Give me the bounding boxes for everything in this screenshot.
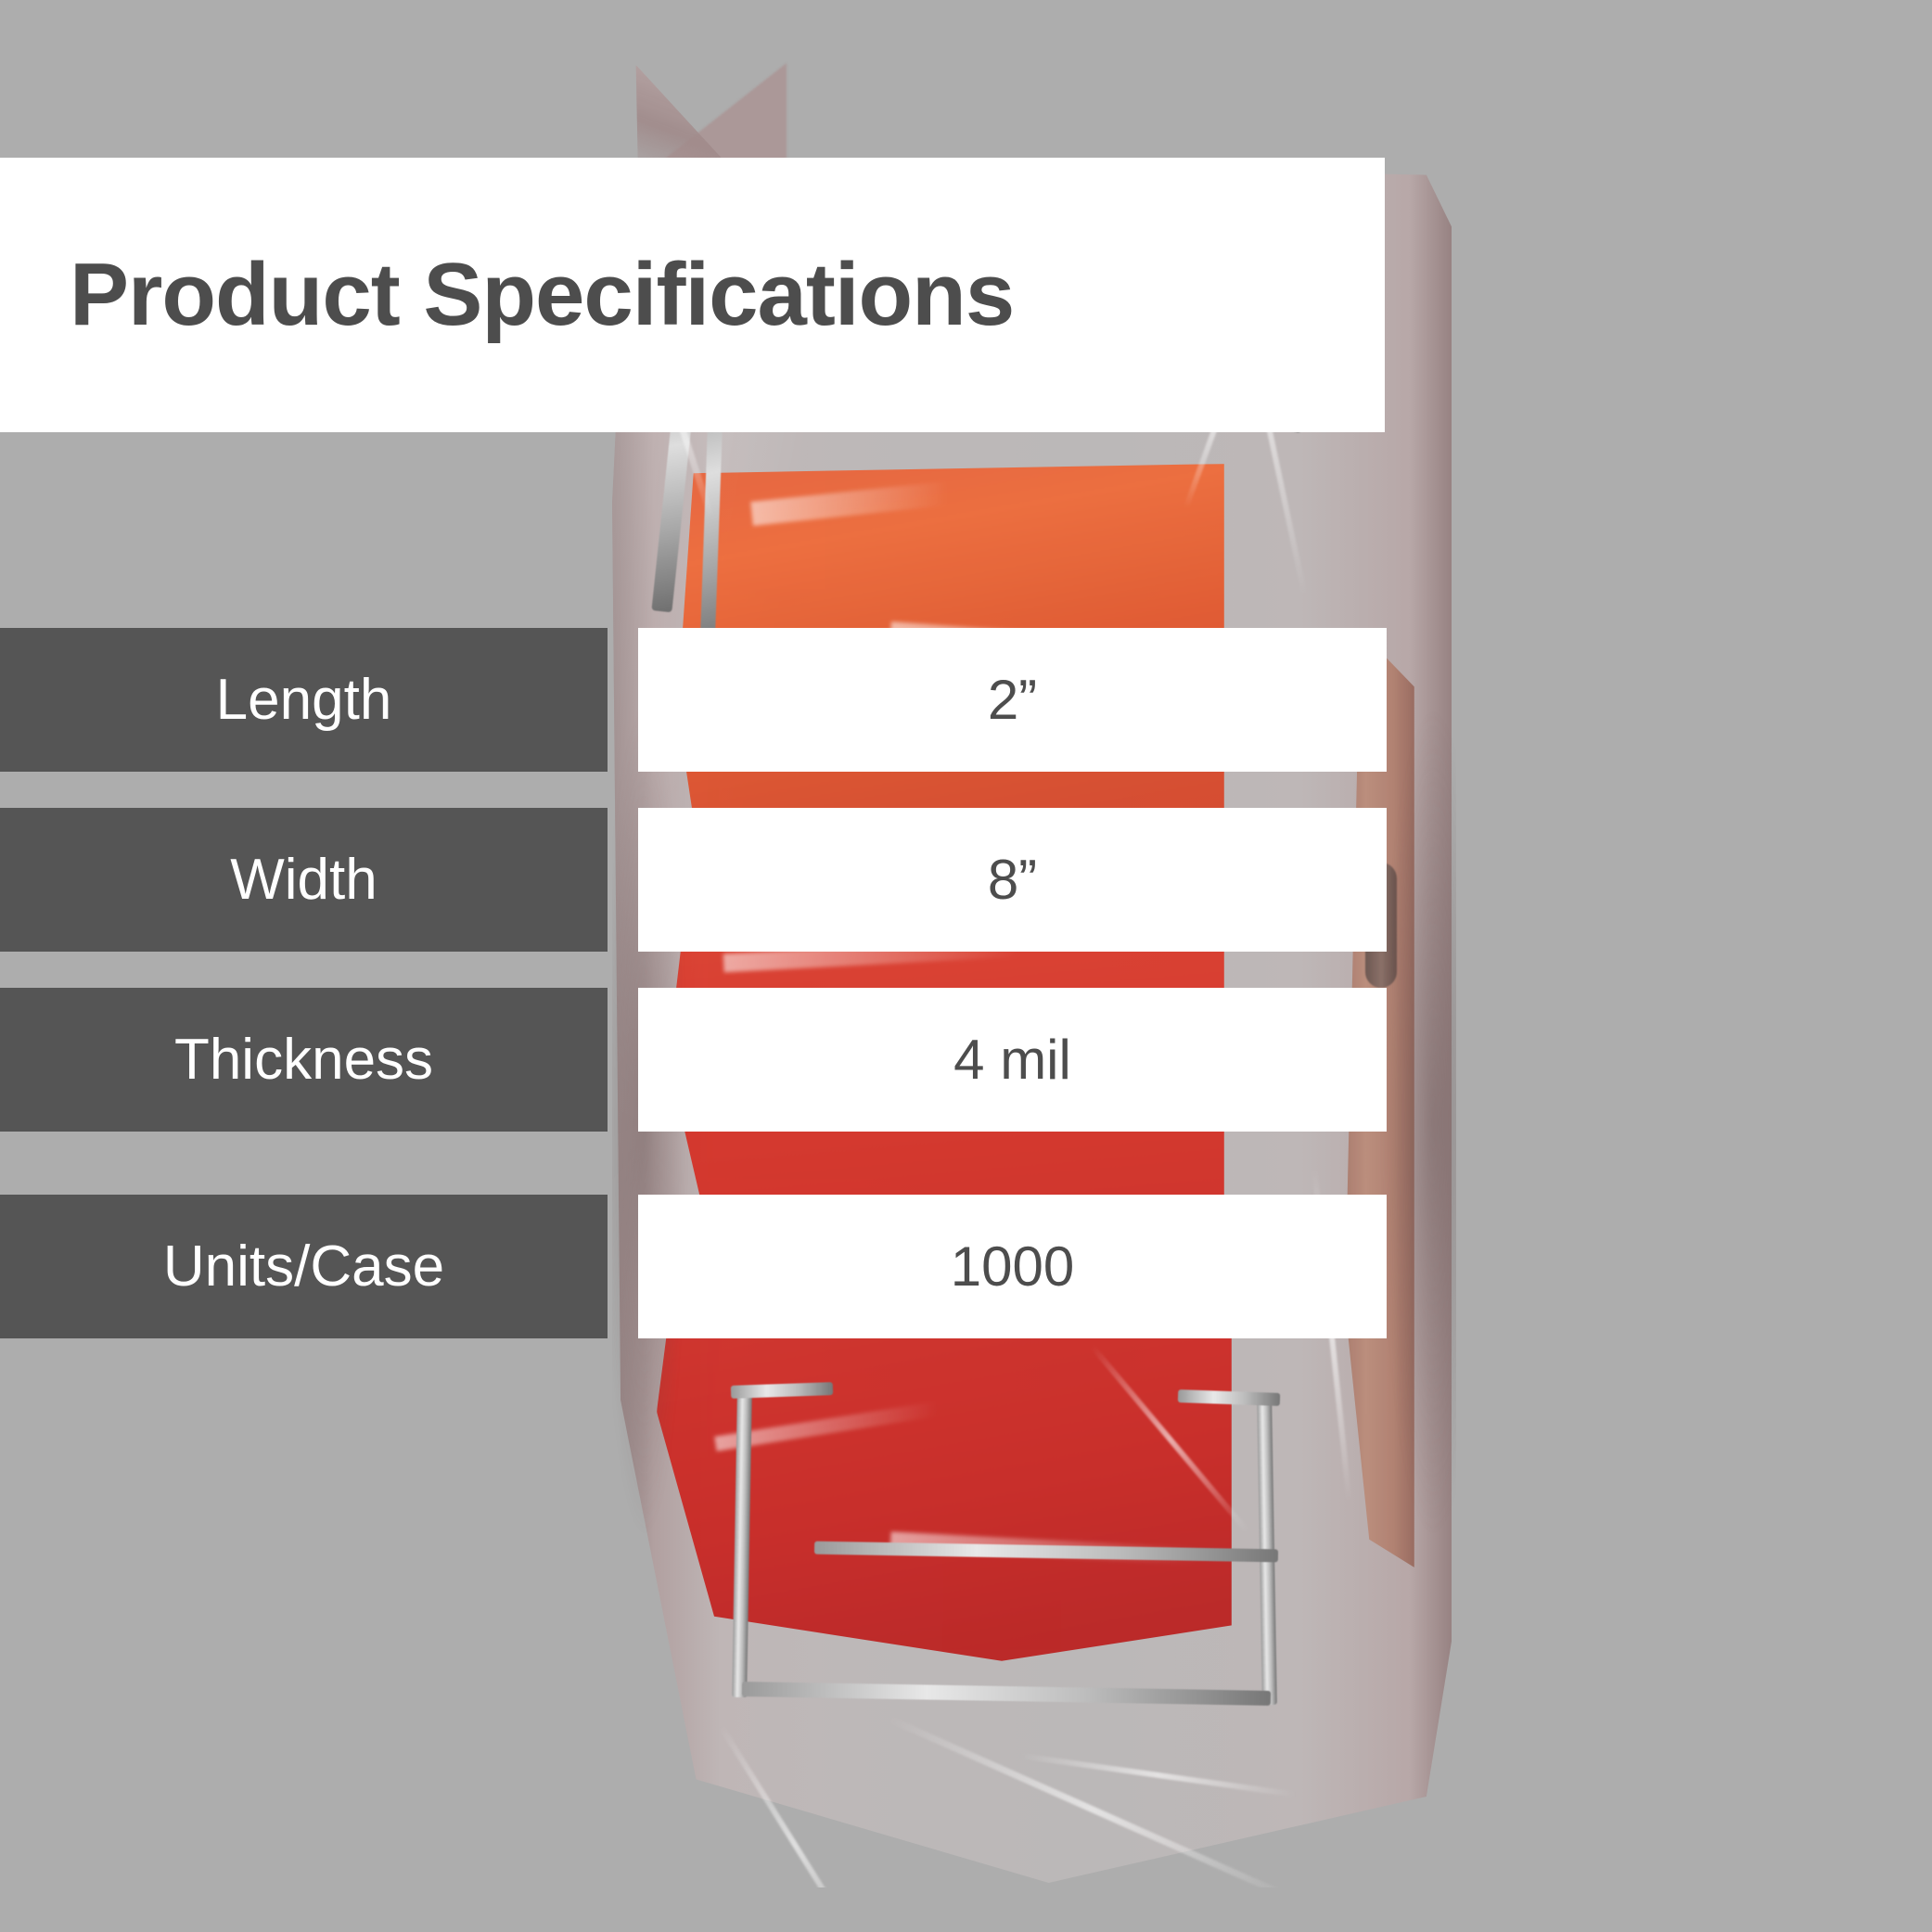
spec-label-text: Width [230, 847, 377, 913]
product-spec-card: Product Specifications Length 2” Width 8… [0, 0, 1932, 1932]
spec-label-units-per-case: Units/Case [0, 1195, 608, 1338]
spec-value-text: 2” [988, 668, 1037, 732]
spec-value-text: 1000 [951, 1235, 1074, 1299]
spec-value-thickness: 4 mil [638, 988, 1387, 1132]
spec-label-length: Length [0, 628, 608, 772]
spec-label-text: Length [216, 667, 392, 733]
spec-value-length: 2” [638, 628, 1387, 772]
spec-label-text: Thickness [174, 1027, 433, 1093]
spec-label-width: Width [0, 808, 608, 952]
spec-value-units-per-case: 1000 [638, 1195, 1387, 1338]
spec-label-text: Units/Case [163, 1234, 444, 1299]
spec-value-text: 4 mil [953, 1028, 1071, 1092]
spec-label-thickness: Thickness [0, 988, 608, 1132]
spec-value-text: 8” [988, 848, 1037, 912]
spec-value-width: 8” [638, 808, 1387, 952]
title-panel: Product Specifications [0, 158, 1385, 432]
page-title: Product Specifications [70, 244, 1014, 346]
